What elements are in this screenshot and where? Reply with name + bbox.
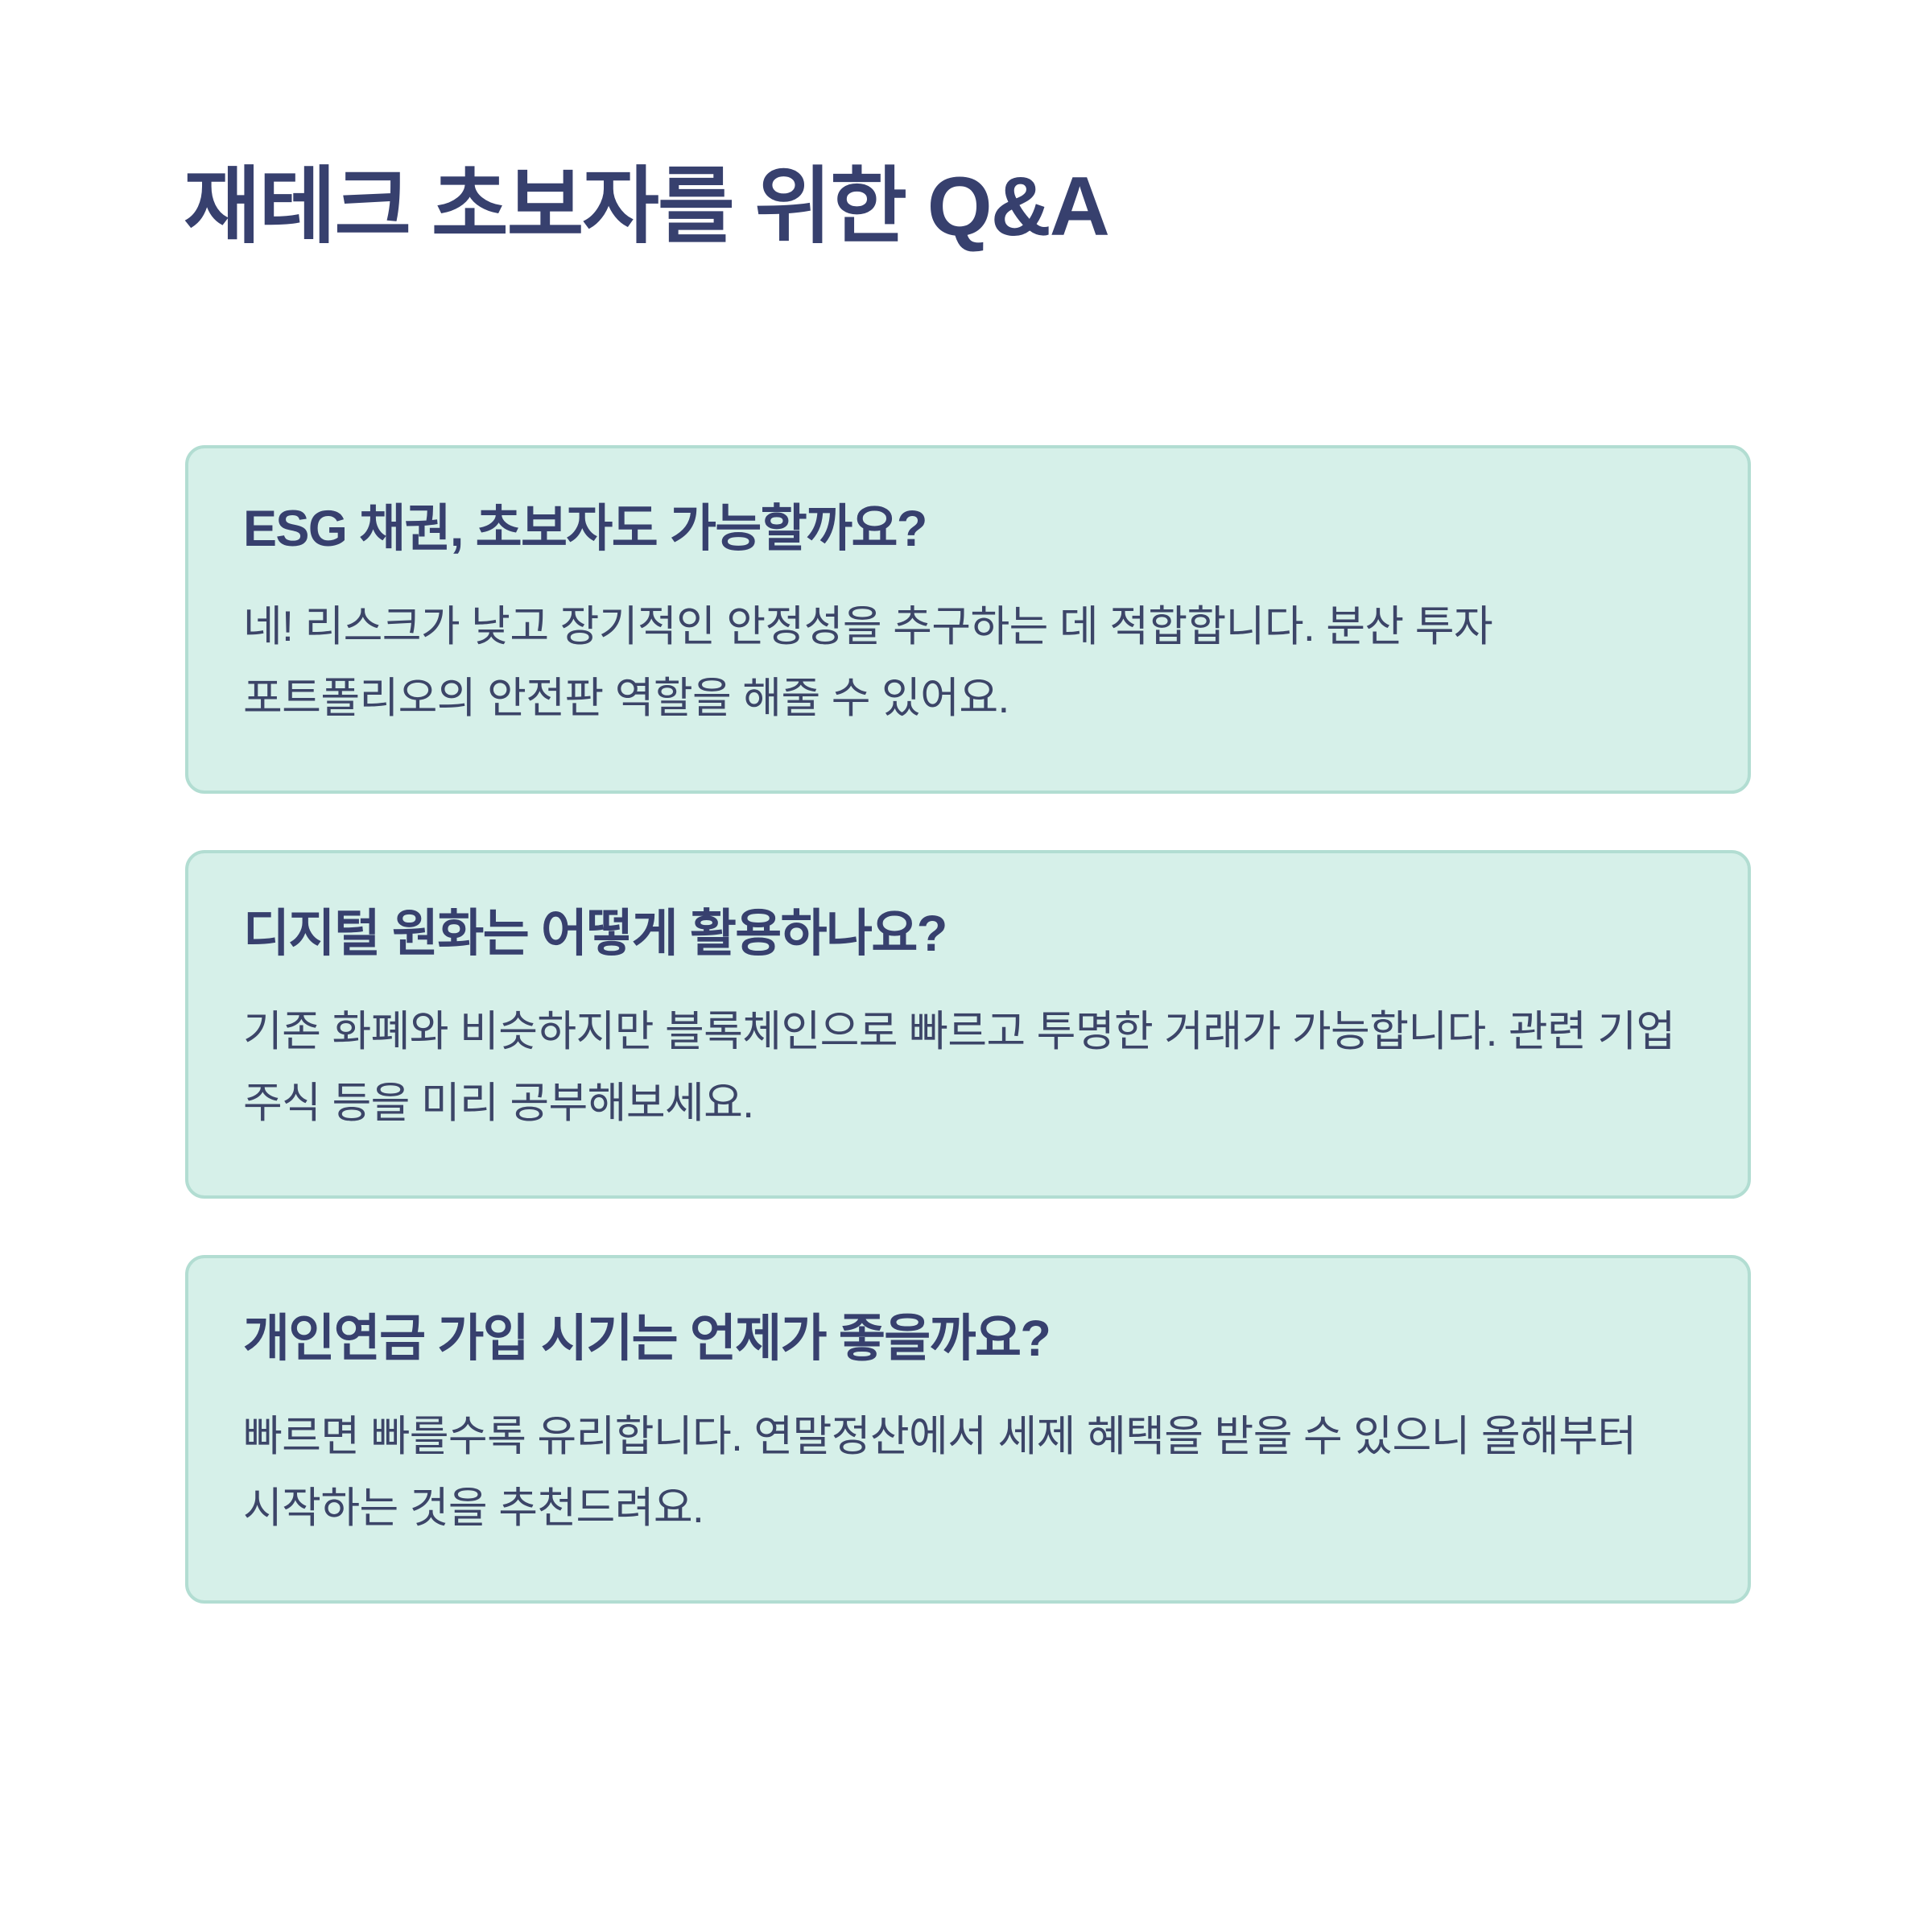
qa-card-list: ESG 채권, 초보자도 가능할까요? 네! 리스크가 낮고 장기적인 안정성을… xyxy=(185,445,1751,1604)
qa-question: 디지털 원화는 어떻게 활용하나요? xyxy=(243,903,1690,965)
qa-answer: 기존 화폐와 비슷하지만 블록체인으로 빠르고 투명한 거래가 가능합니다. 관… xyxy=(243,996,1690,1139)
qa-card[interactable]: 개인연금 가입 시기는 언제가 좋을까요? 빠르면 빠를수록 유리합니다. 연말… xyxy=(185,1255,1751,1604)
qa-infographic-page: 재테크 초보자를 위한 Q&A ESG 채권, 초보자도 가능할까요? 네! 리… xyxy=(0,0,1932,1932)
qa-card[interactable]: 디지털 원화는 어떻게 활용하나요? 기존 화폐와 비슷하지만 블록체인으로 빠… xyxy=(185,850,1751,1199)
qa-question: 개인연금 가입 시기는 언제가 좋을까요? xyxy=(243,1308,1690,1370)
qa-answer: 네! 리스크가 낮고 장기적인 안정성을 추구하는 데 적합합니다. 분산 투자… xyxy=(243,591,1690,734)
qa-card[interactable]: ESG 채권, 초보자도 가능할까요? 네! 리스크가 낮고 장기적인 안정성을… xyxy=(185,445,1751,794)
qa-question: ESG 채권, 초보자도 가능할까요? xyxy=(243,498,1690,560)
page-title: 재테크 초보자를 위한 Q&A xyxy=(184,158,1794,257)
qa-answer: 빠르면 빠를수록 유리합니다. 연말정산에서 세제 혜택을 받을 수 있으니 올… xyxy=(243,1401,1690,1544)
